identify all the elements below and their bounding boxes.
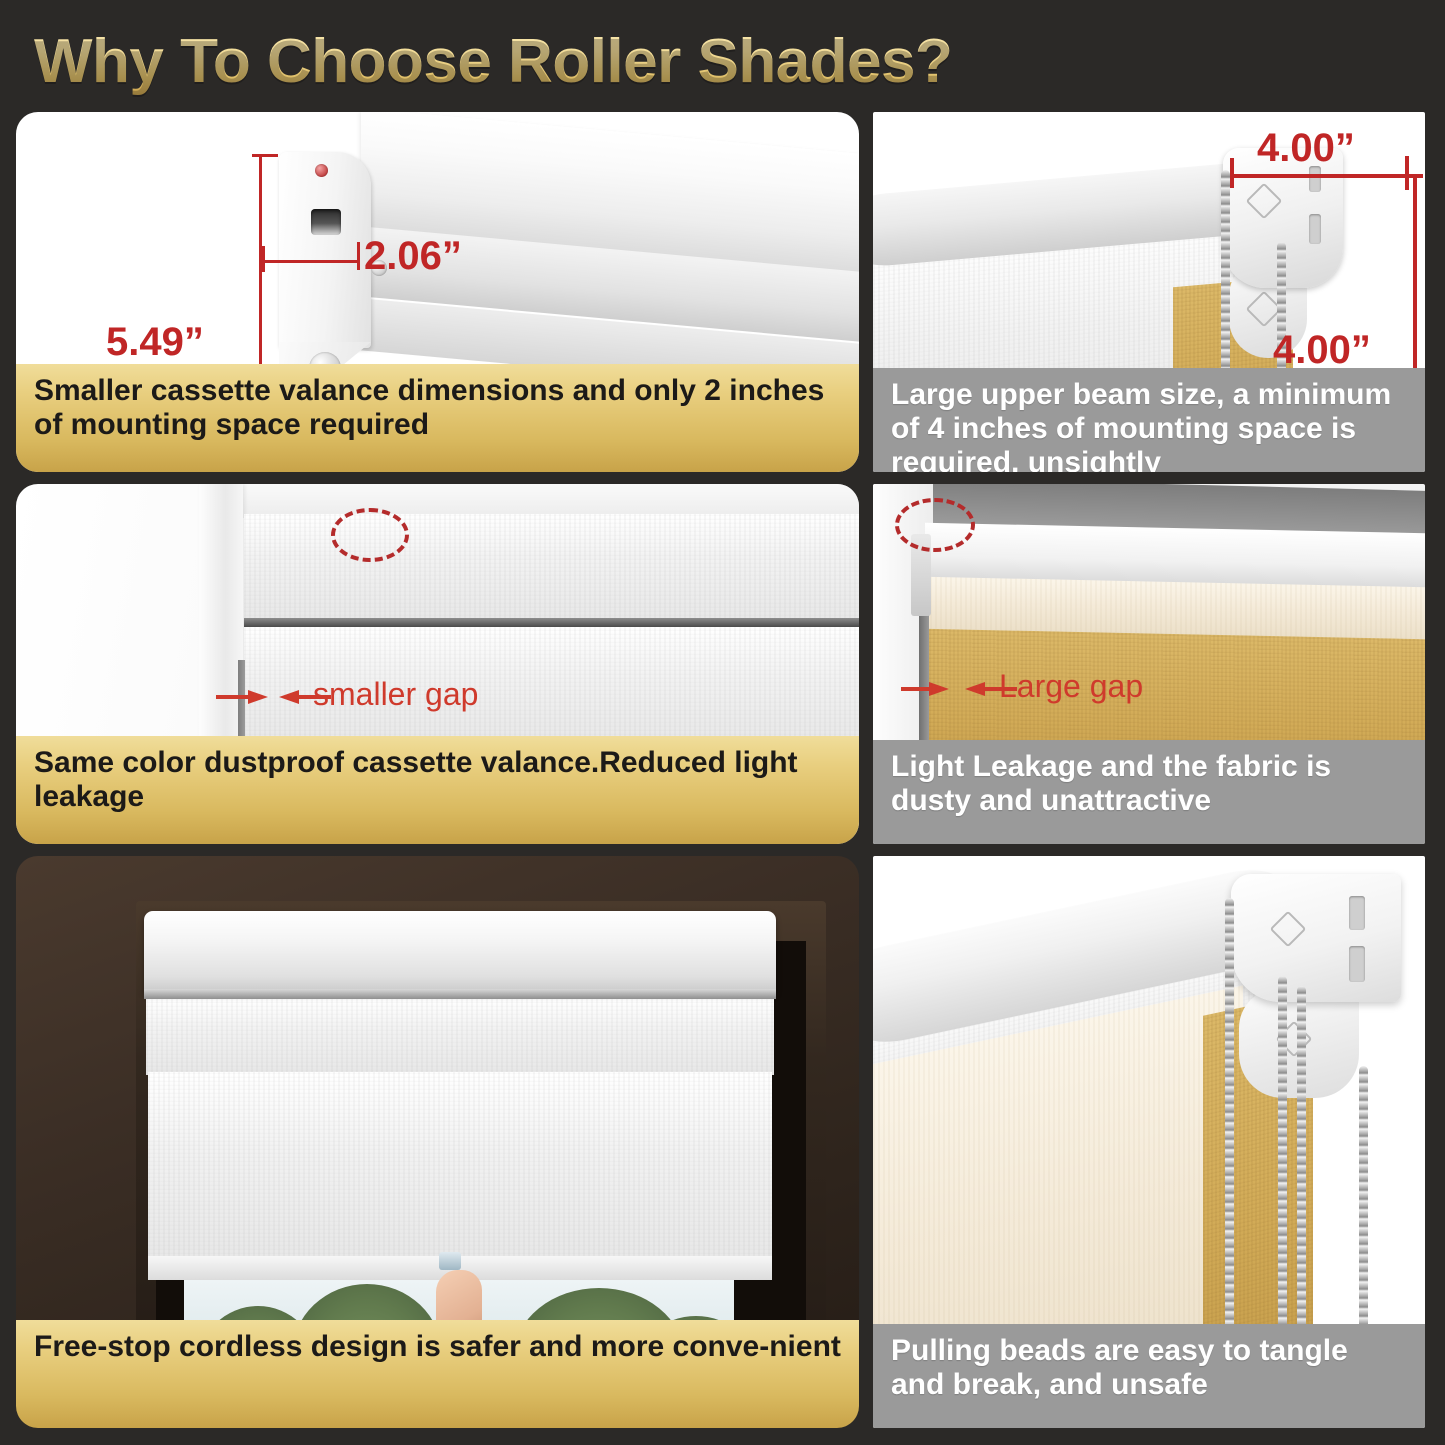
pull-tab bbox=[439, 1252, 461, 1270]
bracket-slot-upper bbox=[1349, 896, 1365, 930]
beam-depth-label: 4.00” bbox=[1273, 328, 1371, 373]
highlight-ellipse bbox=[895, 498, 975, 552]
panel-2-caption: Large upper beam size, a minimum of 4 in… bbox=[873, 368, 1425, 472]
panel-smaller-cassette: 5.49” 2.06” Smaller cassette valance dim… bbox=[16, 112, 859, 472]
page-title: Why To Choose Roller Shades? bbox=[34, 26, 952, 97]
width-dim-tick-left bbox=[262, 246, 265, 272]
width-dim-tick-right bbox=[357, 242, 360, 270]
bracket-arrow-icon bbox=[1270, 911, 1307, 948]
panel-pulling-beads: Pulling beads are easy to tangle and bre… bbox=[873, 856, 1425, 1428]
beam-width-rule bbox=[1231, 174, 1409, 178]
bracket-screw-top bbox=[315, 164, 328, 177]
panel-cordless-design: Free-stop cordless design is safer and m… bbox=[16, 856, 859, 1428]
bead-chain-1 bbox=[1225, 898, 1234, 1376]
headrail-lip bbox=[144, 989, 776, 999]
title-bar: Why To Choose Roller Shades? bbox=[0, 0, 1445, 108]
beam-width-label: 4.00” bbox=[1257, 126, 1355, 171]
highlight-ellipse bbox=[331, 508, 409, 562]
cassette-headrail bbox=[144, 911, 776, 993]
bead-chain-2 bbox=[1278, 976, 1287, 1376]
bracket-arrow-icon bbox=[1246, 183, 1283, 220]
bead-chain-3 bbox=[1297, 986, 1306, 1376]
panel-5-caption: Free-stop cordless design is safer and m… bbox=[16, 1320, 859, 1428]
panel-large-beam: 4.00” 4.00” Large upper beam size, a min… bbox=[873, 112, 1425, 472]
beam-width-tick-right bbox=[1405, 156, 1409, 190]
height-dimension-label: 5.49” bbox=[106, 320, 204, 365]
clutch-bracket bbox=[1231, 874, 1401, 1002]
gap-arrow-right-icon bbox=[955, 672, 1025, 706]
panel-3-caption: Same color dustproof cassette valance.Re… bbox=[16, 736, 859, 844]
shade-fabric-main bbox=[148, 1072, 772, 1262]
bracket-slot-lower bbox=[1309, 214, 1321, 244]
beam-depth-tick-top bbox=[1397, 174, 1423, 178]
height-dim-line bbox=[259, 154, 262, 393]
bracket-slot-lower bbox=[1349, 946, 1365, 982]
shade-fabric-upper bbox=[146, 999, 774, 1075]
panel-light-leakage: Large gap Light Leakage and the fabric i… bbox=[873, 484, 1425, 844]
panel-dustproof-valance: smaller gap Same color dustproof cassett… bbox=[16, 484, 859, 844]
width-dim-rule bbox=[264, 260, 360, 263]
bracket-slot bbox=[311, 209, 341, 235]
width-dimension-label: 2.06” bbox=[364, 234, 462, 279]
beam-width-tick-left bbox=[1230, 158, 1234, 188]
panel-6-caption: Pulling beads are easy to tangle and bre… bbox=[873, 1324, 1425, 1428]
window-head-trim bbox=[199, 484, 859, 518]
valance-lip bbox=[244, 618, 859, 627]
height-dim-tick-top bbox=[252, 154, 278, 157]
panel-1-caption: Smaller cassette valance dimensions and … bbox=[16, 364, 859, 472]
gap-arrow-right-icon bbox=[269, 680, 339, 714]
panel-4-caption: Light Leakage and the fabric is dusty an… bbox=[873, 740, 1425, 844]
